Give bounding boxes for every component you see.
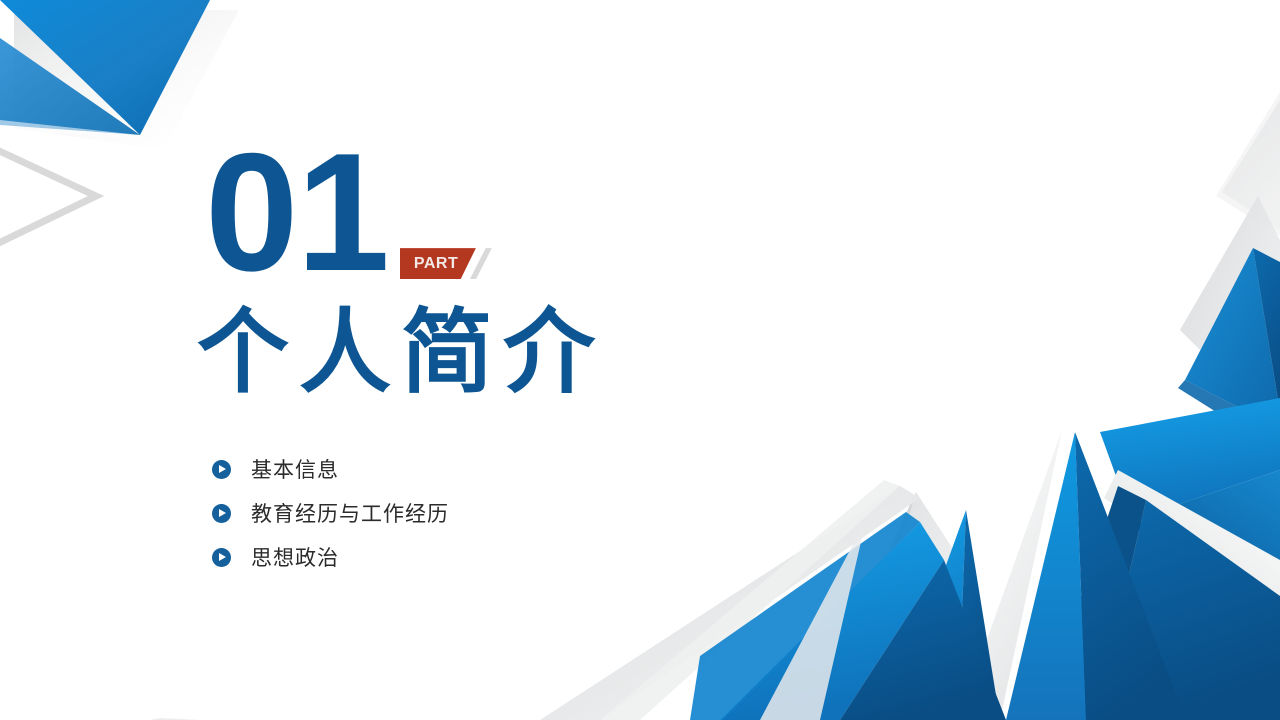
slide-content: 01 PART 个人简介 基本信息 教育经历与工作经历 思想政治 [0,0,1280,720]
play-circle-icon [212,460,231,479]
presentation-slide: 01 PART 个人简介 基本信息 教育经历与工作经历 思想政治 [0,0,1280,720]
bullet-list: 基本信息 教育经历与工作经历 思想政治 [212,447,449,579]
section-number-row: 01 PART [205,142,492,283]
play-circle-icon [212,548,231,567]
list-item[interactable]: 思想政治 [212,535,449,579]
part-badge: PART [400,248,492,279]
list-item-label: 思想政治 [251,542,339,572]
section-title: 个人简介 [197,303,605,402]
play-circle-icon [212,504,231,523]
list-item[interactable]: 基本信息 [212,447,449,491]
list-item[interactable]: 教育经历与工作经历 [212,491,449,535]
part-badge-label: PART [414,254,458,273]
section-number: 01 [205,142,388,283]
list-item-label: 教育经历与工作经历 [251,498,449,528]
list-item-label: 基本信息 [251,454,339,484]
